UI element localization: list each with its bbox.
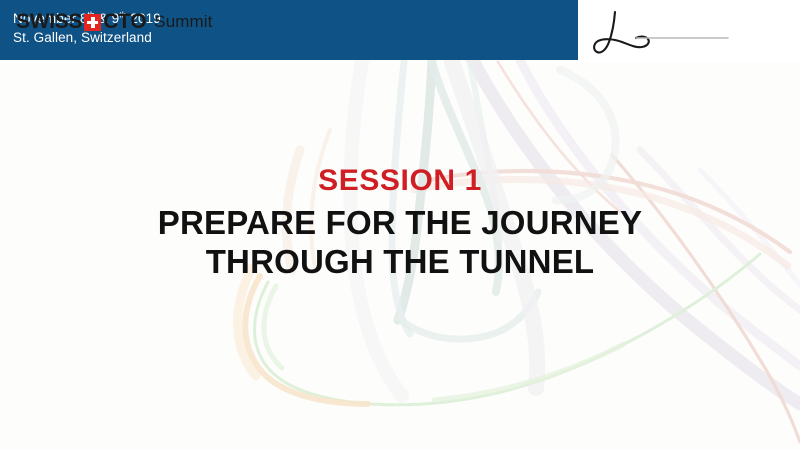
logo-word-swiss: SWISS bbox=[16, 9, 82, 35]
logo-panel bbox=[578, 0, 800, 62]
presentation-slide: November 8th & 9th 2019 St. Gallen, Swit… bbox=[0, 0, 800, 450]
swiss-cross-icon bbox=[84, 14, 101, 31]
swiss-cto-summit-logo: SWISS CTO Summit bbox=[16, 9, 212, 35]
logo-wordmark: SWISS CTO bbox=[16, 9, 146, 35]
cross-bar-vertical bbox=[91, 17, 95, 28]
slide-title-line-1: PREPARE FOR THE JOURNEY bbox=[0, 203, 800, 242]
session-label: SESSION 1 bbox=[0, 163, 800, 199]
slide-title-block: SESSION 1 PREPARE FOR THE JOURNEY THROUG… bbox=[0, 163, 800, 281]
slide-title-line-2: THROUGH THE TUNNEL bbox=[0, 242, 800, 281]
logo-word-cto: CTO bbox=[103, 9, 146, 35]
logo-word-summit: Summit bbox=[154, 9, 212, 35]
